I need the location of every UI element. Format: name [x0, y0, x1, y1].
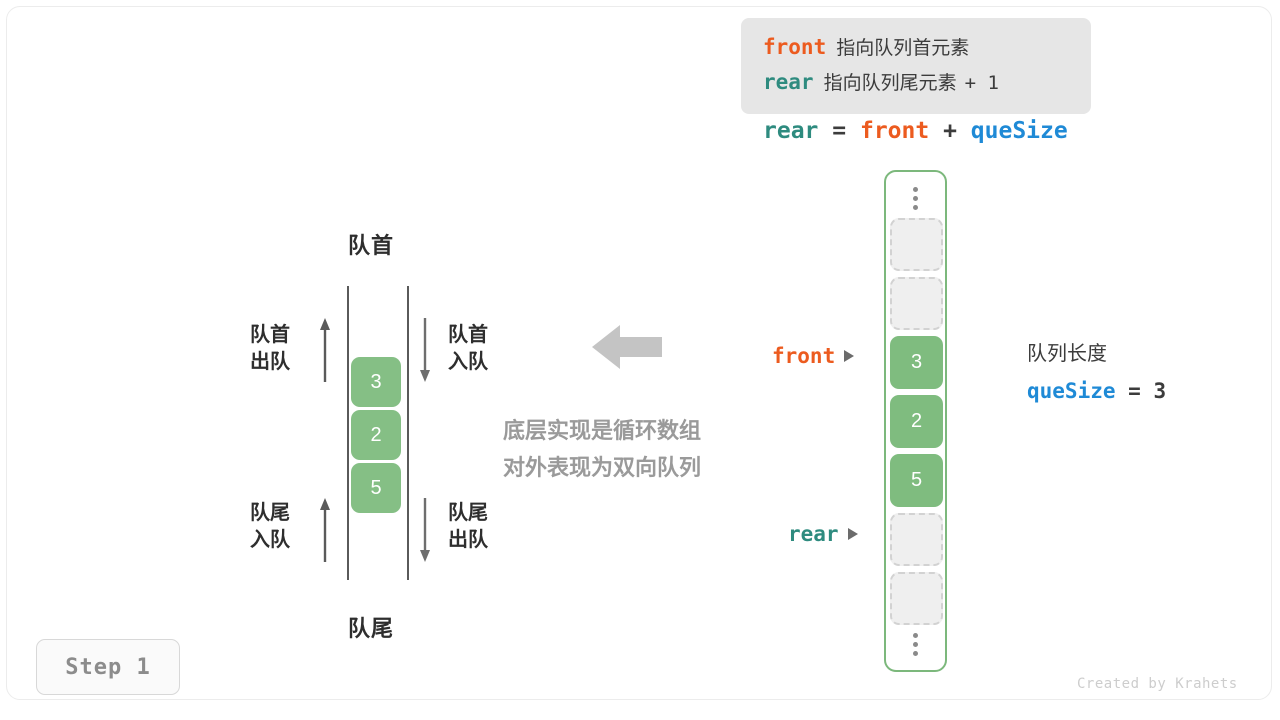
op-label-line: 队尾 [448, 500, 488, 527]
op-label-line: 入队 [250, 527, 290, 554]
formula-quesize: queSize [971, 118, 1068, 144]
center-note: 底层实现是循环数组 对外表现为双向队列 [503, 412, 701, 486]
deque-cell: 5 [351, 463, 401, 513]
deque-tail-label: 队尾 [348, 611, 394, 643]
queue-size-value: queSize = 3 [1027, 378, 1166, 404]
arrow-up-icon [318, 498, 332, 562]
pointer-label-front: front [772, 344, 854, 368]
op-label-head-dequeue: 队首 出队 [250, 322, 290, 376]
formula-plus: + [943, 118, 957, 144]
op-label-line: 出队 [250, 349, 290, 376]
legend-token-rear: rear [763, 65, 814, 99]
array-cell-filled: 5 [890, 454, 943, 507]
op-label-line: 队尾 [250, 500, 290, 527]
queue-size-operator: = [1128, 379, 1141, 403]
vertical-ellipsis-icon [886, 624, 945, 664]
legend-token-front: front [763, 30, 826, 64]
array-cell-empty [890, 513, 943, 566]
array-cell-empty [890, 277, 943, 330]
legend-desc-rear: 指向队列尾元素 [824, 66, 957, 100]
deque-guide-line-left [347, 286, 349, 580]
formula-equals: = [832, 118, 846, 144]
array-cell-filled: 2 [890, 395, 943, 448]
legend-desc-front: 指向队列首元素 [836, 31, 969, 65]
circular-array-container: 3 2 5 [884, 170, 947, 672]
op-label-line: 出队 [448, 527, 488, 554]
center-note-line-1: 底层实现是循环数组 [503, 412, 701, 449]
array-cell-filled: 3 [890, 336, 943, 389]
pointer-arrow-icon [844, 350, 854, 362]
deque-guide-line-right [407, 286, 409, 580]
deque-cell: 2 [351, 410, 401, 460]
pointer-legend-box: front 指向队列首元素 rear 指向队列尾元素 + 1 [741, 18, 1091, 114]
legend-line-front: front 指向队列首元素 [741, 30, 1091, 65]
formula-rear: rear [763, 118, 818, 144]
queue-size-block: 队列长度 queSize = 3 [1027, 338, 1166, 404]
diagram-canvas: front 指向队列首元素 rear 指向队列尾元素 + 1 rear = fr… [0, 0, 1280, 720]
credit-text: Created by Krahets [1077, 676, 1238, 692]
op-label-line: 入队 [448, 349, 488, 376]
arrow-left-icon [592, 322, 662, 372]
vertical-ellipsis-icon [886, 178, 945, 218]
array-cell-empty [890, 218, 943, 271]
arrow-down-icon [418, 498, 432, 562]
pointer-arrow-icon [848, 528, 858, 540]
deque-cell: 3 [351, 357, 401, 407]
op-label-tail-dequeue: 队尾 出队 [448, 500, 488, 554]
queue-size-title: 队列长度 [1027, 338, 1166, 368]
center-note-line-2: 对外表现为双向队列 [503, 449, 701, 486]
op-label-tail-enqueue: 队尾 入队 [250, 500, 290, 554]
array-cell-empty [890, 572, 943, 625]
pointer-front-text: front [772, 344, 835, 368]
step-badge-label: Step 1 [65, 655, 150, 680]
op-label-head-enqueue: 队首 入队 [448, 322, 488, 376]
pointer-rear-text: rear [788, 522, 839, 546]
deque-head-label: 队首 [348, 228, 394, 260]
pointer-label-rear: rear [788, 522, 858, 546]
legend-line-rear: rear 指向队列尾元素 + 1 [741, 65, 1091, 100]
op-label-line: 队首 [250, 322, 290, 349]
step-badge: Step 1 [36, 639, 180, 695]
formula-front: front [860, 118, 929, 144]
queue-size-name: queSize [1027, 379, 1116, 403]
arrow-down-icon [418, 318, 432, 382]
legend-suffix-rear: + 1 [965, 66, 999, 100]
queue-size-number: 3 [1153, 379, 1166, 403]
op-label-line: 队首 [448, 322, 488, 349]
arrow-up-icon [318, 318, 332, 382]
pointer-formula: rear = front + queSize [763, 118, 1068, 144]
